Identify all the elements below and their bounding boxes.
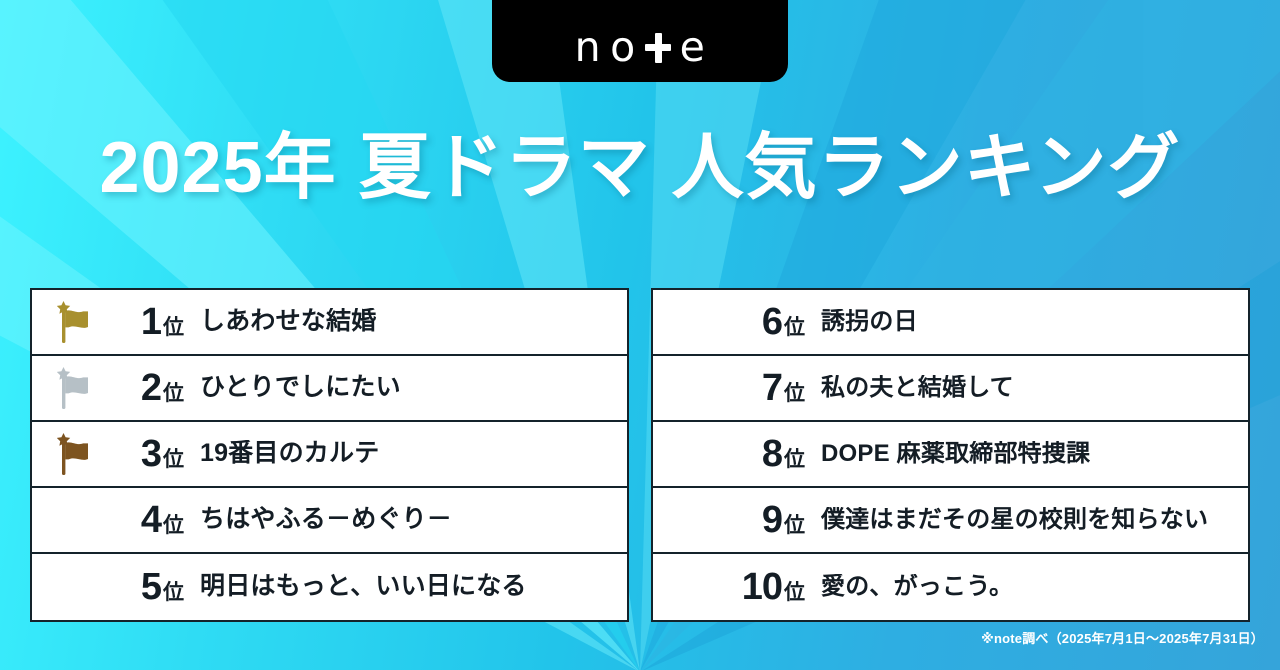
ranking-list-right: 6位誘拐の日7位私の夫と結婚して8位DOPE 麻薬取締部特捜課9位僕達はまだその… [651, 288, 1250, 622]
drama-title: 明日はもっと、いい日になる [200, 573, 527, 601]
rank-number: 9 [762, 501, 782, 539]
note-logo-plus-icon [645, 33, 671, 63]
rank-number: 6 [762, 303, 782, 341]
ranking-row[interactable]: 1位しあわせな結婚 [32, 290, 627, 356]
rank-unit-label: 位 [784, 449, 805, 470]
rank-unit-label: 位 [163, 383, 184, 404]
note-logo[interactable]: n o e [492, 0, 788, 82]
drama-title: しあわせな結婚 [200, 308, 376, 336]
flag-icon [57, 300, 91, 344]
drama-title: 19番目のカルテ [200, 440, 379, 468]
note-logo-letter-n: n [575, 27, 602, 68]
rank-number-group: 1位 [108, 303, 184, 341]
ranking-row[interactable]: 9位僕達はまだその星の校則を知らない [653, 488, 1248, 554]
drama-title: 私の夫と結婚して [821, 375, 1014, 401]
rank-number: 5 [141, 568, 161, 606]
ranking-row[interactable]: 10位愛の、がっこう。 [653, 554, 1248, 620]
rank-number: 3 [141, 435, 161, 473]
rank-number: 8 [762, 435, 782, 473]
drama-title: ひとりでしにたい [200, 374, 401, 402]
rank-number-group: 3位 [108, 435, 184, 473]
drama-title: 誘拐の日 [821, 309, 918, 335]
note-logo-letter-o: o [610, 27, 636, 68]
ranking-row[interactable]: 3位19番目のカルテ [32, 422, 627, 488]
page-title-subject: 夏ドラマ 人気ランキング [359, 128, 1181, 208]
rank-number-group: 6位 [729, 303, 805, 341]
ranking-row[interactable]: 2位ひとりでしにたい [32, 356, 627, 422]
ranking-list-left: 1位しあわせな結婚2位ひとりでしにたい3位19番目のカルテ4位ちはやふる－めぐり… [30, 288, 629, 622]
rank-number-group: 5位 [108, 568, 184, 606]
page-title: 2025年夏ドラマ 人気ランキング [0, 128, 1280, 209]
ranking-row[interactable]: 5位明日はもっと、いい日になる [32, 554, 627, 620]
rank-number: 7 [762, 369, 782, 407]
ranking-row[interactable]: 6位誘拐の日 [653, 290, 1248, 356]
note-logo-letter-e: e [680, 27, 706, 68]
rank-number: 2 [141, 369, 161, 407]
ranking-row[interactable]: 8位DOPE 麻薬取締部特捜課 [653, 422, 1248, 488]
rank-unit-label: 位 [163, 515, 184, 536]
flag-icon [57, 432, 91, 476]
medal-flag-silver [40, 366, 108, 410]
rank-number-group: 7位 [729, 369, 805, 407]
rank-number: 10 [742, 568, 782, 606]
ranking-columns: 1位しあわせな結婚2位ひとりでしにたい3位19番目のカルテ4位ちはやふる－めぐり… [30, 288, 1250, 622]
rank-unit-label: 位 [784, 515, 805, 536]
drama-title: ちはやふる－めぐり－ [200, 506, 452, 534]
ranking-row[interactable]: 7位私の夫と結婚して [653, 356, 1248, 422]
rank-number-group: 10位 [729, 568, 805, 606]
rank-number: 1 [141, 303, 161, 341]
ranking-row[interactable]: 4位ちはやふる－めぐり－ [32, 488, 627, 554]
rank-unit-label: 位 [163, 582, 184, 603]
rank-unit-label: 位 [163, 317, 184, 338]
note-logo-mark: n o e [575, 27, 706, 68]
rank-unit-label: 位 [163, 449, 184, 470]
rank-number-group: 9位 [729, 501, 805, 539]
rank-number-group: 2位 [108, 369, 184, 407]
source-footnote: ※note調べ（2025年7月1日〜2025年7月31日） [981, 628, 1264, 647]
drama-title: 僕達はまだその星の校則を知らない [821, 507, 1208, 533]
rank-unit-label: 位 [784, 317, 805, 338]
medal-flag-gold [40, 300, 108, 344]
rank-number: 4 [141, 501, 161, 539]
medal-flag-bronze [40, 432, 108, 476]
flag-icon [57, 366, 91, 410]
drama-title: 愛の、がっこう。 [821, 574, 1013, 600]
rank-number-group: 8位 [729, 435, 805, 473]
rank-number-group: 4位 [108, 501, 184, 539]
drama-title: DOPE 麻薬取締部特捜課 [821, 441, 1090, 467]
rank-unit-label: 位 [784, 582, 805, 603]
page-title-year: 2025年 [99, 128, 336, 208]
ranking-infographic: n o e 2025年夏ドラマ 人気ランキング 1位しあわせな結婚2位ひとりでし… [0, 0, 1280, 670]
rank-unit-label: 位 [784, 383, 805, 404]
